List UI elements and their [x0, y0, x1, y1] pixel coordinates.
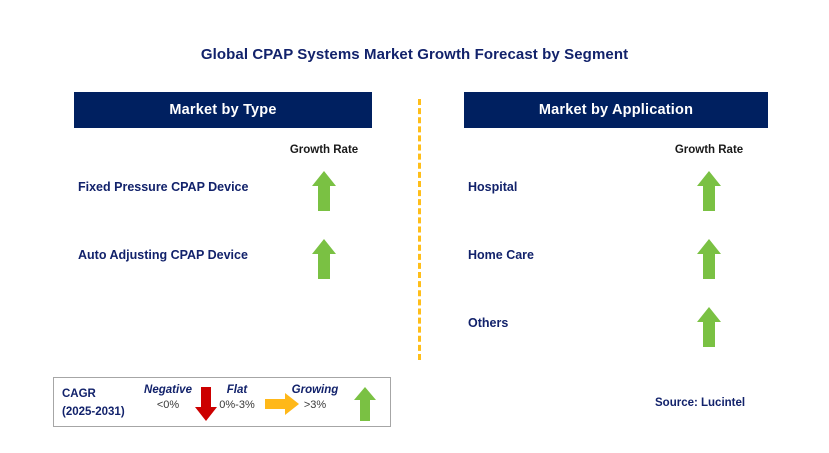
segment-label: Hospital	[468, 178, 658, 197]
legend-item-flat: Flat 0%-3%	[206, 384, 268, 411]
arrow-up-icon	[696, 306, 722, 348]
panel-header-market-by-type: Market by Type	[74, 92, 372, 128]
source-note: Source: Lucintel	[655, 397, 745, 409]
segment-rows-left: Fixed Pressure CPAP Device Auto Adjustin…	[74, 170, 372, 306]
growth-indicator	[269, 170, 379, 212]
legend-item-range: 0%-3%	[206, 399, 268, 411]
growth-indicator	[654, 238, 764, 280]
legend-item-growing: Growing >3%	[279, 384, 351, 411]
arrow-up-icon	[696, 170, 722, 212]
legend: CAGR (2025-2031) Negative <0% Flat 0%-3%…	[53, 377, 391, 427]
legend-content: CAGR (2025-2031) Negative <0% Flat 0%-3%…	[54, 378, 390, 426]
legend-cagr-label: CAGR	[62, 386, 125, 404]
legend-item-label: Growing	[279, 384, 351, 396]
table-row: Auto Adjusting CPAP Device	[74, 238, 372, 306]
segment-label: Home Care	[468, 246, 658, 265]
panel-divider	[418, 99, 421, 360]
legend-cagr-block: CAGR (2025-2031)	[62, 386, 125, 422]
segment-label: Fixed Pressure CPAP Device	[78, 178, 268, 197]
segment-label: Auto Adjusting CPAP Device	[78, 246, 268, 265]
panel-header-market-by-application: Market by Application	[464, 92, 768, 128]
growth-indicator	[654, 170, 764, 212]
panel-market-by-type: Market by Type Growth Rate Fixed Pressur…	[74, 92, 372, 128]
table-row: Others	[464, 306, 768, 374]
column-header-growth-rate-right: Growth Rate	[654, 144, 764, 156]
table-row: Fixed Pressure CPAP Device	[74, 170, 372, 238]
table-row: Home Care	[464, 238, 768, 306]
page-title: Global CPAP Systems Market Growth Foreca…	[0, 46, 829, 63]
column-header-growth-rate-left: Growth Rate	[269, 144, 379, 156]
growth-indicator	[654, 306, 764, 348]
arrow-up-icon	[311, 170, 337, 212]
segment-rows-right: Hospital Home Care Others	[464, 170, 768, 374]
panel-market-by-application: Market by Application Growth Rate Hospit…	[464, 92, 768, 128]
legend-cagr-period: (2025-2031)	[62, 404, 125, 422]
arrow-up-icon	[353, 386, 377, 422]
arrow-up-icon	[311, 238, 337, 280]
table-row: Hospital	[464, 170, 768, 238]
arrow-up-icon	[696, 238, 722, 280]
segment-label: Others	[468, 314, 658, 333]
legend-item-range: >3%	[279, 399, 351, 411]
infographic-canvas: Global CPAP Systems Market Growth Foreca…	[0, 0, 829, 453]
legend-item-label: Flat	[206, 384, 268, 396]
growth-indicator	[269, 238, 379, 280]
